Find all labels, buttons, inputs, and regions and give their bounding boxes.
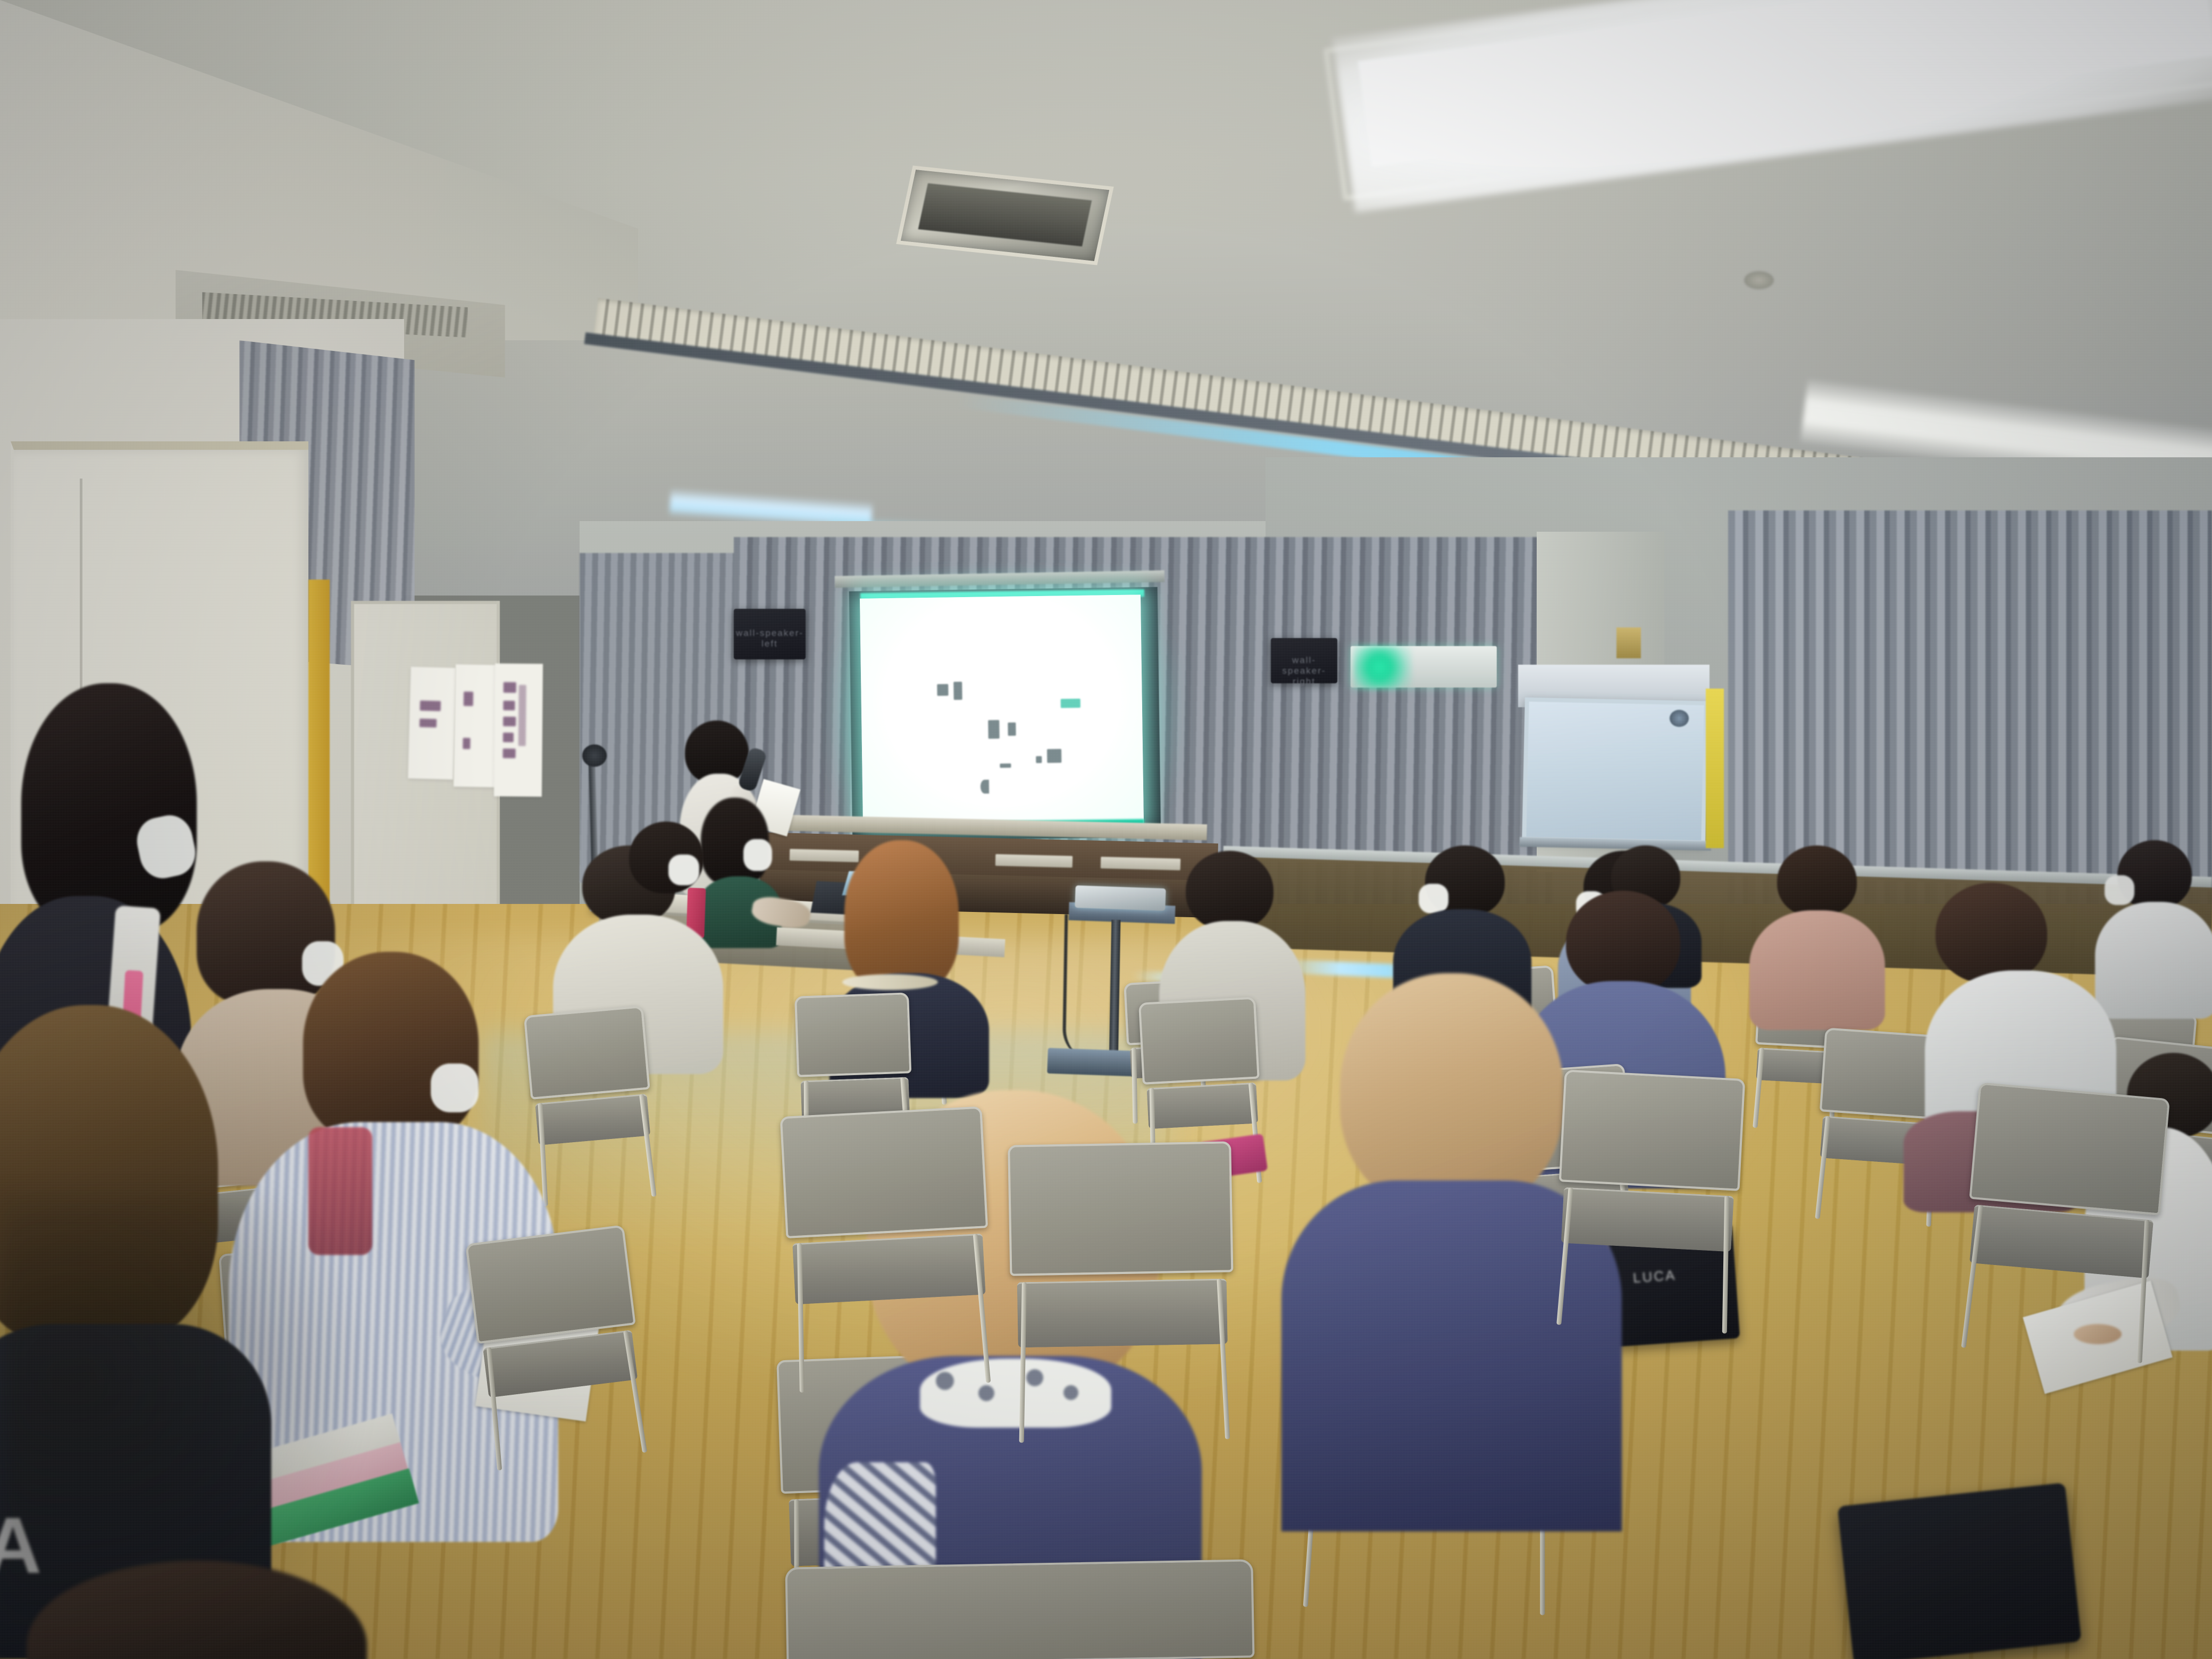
smoke-detector-icon — [1744, 271, 1774, 289]
attendee-hair — [844, 840, 959, 992]
attendee-note: navy vest with white floral collar, fore… — [760, 1090, 761, 1091]
chair[interactable] — [785, 1559, 1256, 1659]
staff-hair — [21, 683, 197, 933]
attendee-note: white top writing on papers, far right — [2063, 1053, 2064, 1053]
attendee-collar — [842, 974, 938, 990]
photo-scene: wall-speaker-left wall-speaker-right blo… — [0, 0, 2212, 1659]
projector[interactable] — [1075, 885, 1166, 911]
attendee-note: periwinkle cardigan — [1515, 891, 1516, 891]
face-mask — [431, 1063, 479, 1112]
attendee-hair — [1777, 845, 1857, 917]
attendee-hair — [1935, 883, 2047, 984]
attendee-note: white blouse with maroon trousers, right — [1904, 883, 1904, 883]
exit-sign-green-indicator — [1353, 646, 1412, 689]
speaker-brand-label: wall-speaker-right — [1271, 655, 1337, 687]
magnet-icon[interactable] — [1670, 710, 1689, 727]
projector-cable — [1062, 914, 1113, 1061]
notice-poster — [408, 667, 456, 780]
chair[interactable] — [780, 1106, 996, 1393]
attendee-note: blue-striped shirt dress, left — [229, 952, 229, 952]
floor-shadow — [0, 1196, 372, 1659]
wall-speaker-right: wall-speaker-right — [1271, 638, 1337, 683]
microphone-icon — [582, 744, 607, 767]
attendee-note: beige knit, left side — [175, 861, 176, 862]
face-mask — [1419, 884, 1448, 914]
attendee-note: reddish hair, navy top — [829, 840, 830, 841]
attendee — [614, 822, 726, 954]
attendee-note: pale top, left of center — [553, 845, 554, 846]
chair[interactable] — [1552, 1069, 1746, 1334]
wall-trim-yellow — [1706, 689, 1724, 848]
projection-screen[interactable]: blown-out white slide with faint teal an… — [860, 594, 1144, 827]
face-mask — [668, 854, 699, 885]
notice-poster — [454, 664, 498, 787]
chair[interactable] — [1008, 1141, 1236, 1443]
counter-panel-slot — [995, 854, 1073, 868]
attendee-hair — [303, 952, 479, 1143]
attendee-note: navy top, center-right — [1271, 973, 1271, 974]
wall-emblem-icon — [1616, 627, 1641, 658]
notice-poster — [494, 664, 543, 797]
wall-speaker-left: wall-speaker-left — [734, 609, 806, 659]
attendee-torso — [1749, 910, 1885, 1030]
face-mask — [743, 839, 772, 871]
handbag-dark[interactable] — [1837, 1482, 2081, 1659]
attendee-hair — [1186, 851, 1273, 931]
attendee-hair — [1340, 973, 1563, 1212]
presenter-description: standing presenter holding handheld micr… — [675, 720, 676, 721]
speaker-brand-label: wall-speaker-left — [734, 628, 806, 649]
chair[interactable] — [1956, 1082, 2170, 1363]
attendee — [1749, 845, 1888, 1026]
chair[interactable] — [465, 1225, 651, 1471]
slide-content-note: blown-out white slide with faint teal an… — [860, 599, 860, 599]
